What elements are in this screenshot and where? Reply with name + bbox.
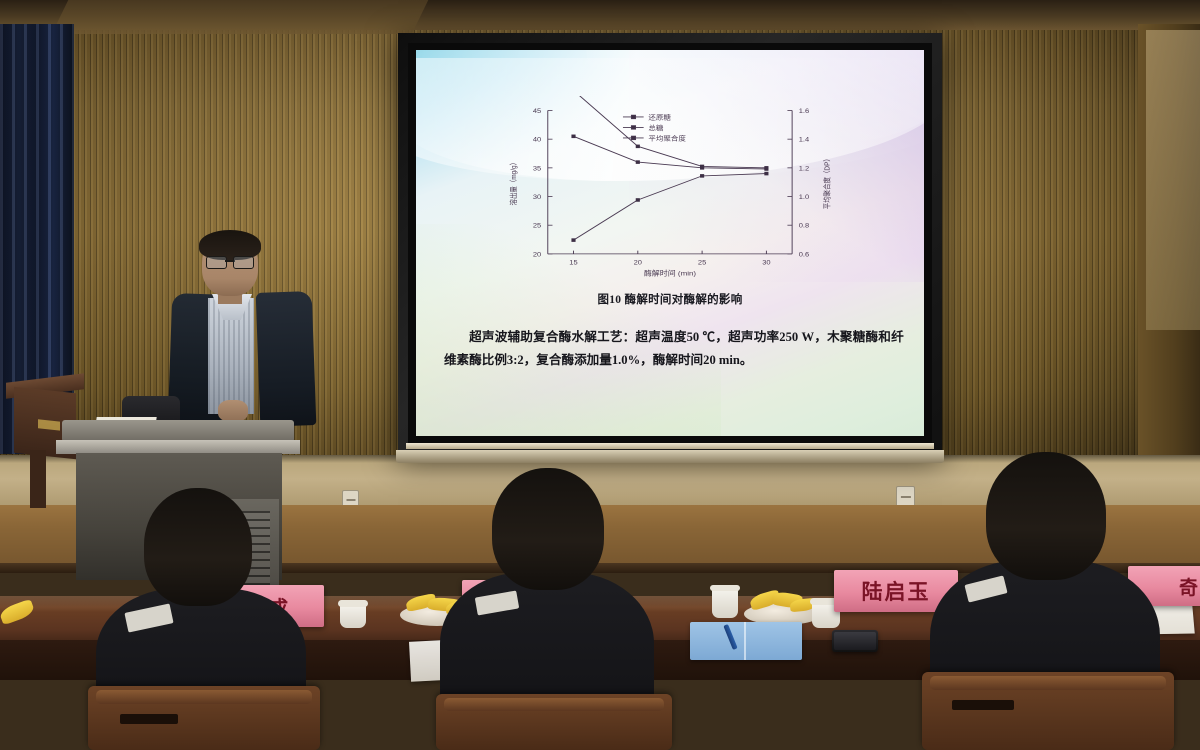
chair-rail-center xyxy=(444,698,664,711)
presenter-hands xyxy=(218,400,248,422)
paper-cup-center xyxy=(712,588,738,618)
notebook xyxy=(690,622,802,660)
screenshot-root: 2025303540450.60.81.01.21.41.615202530溶出… xyxy=(0,0,1200,750)
audience-2-head xyxy=(492,468,604,590)
presentation-slide: 2025303540450.60.81.01.21.41.615202530溶出… xyxy=(416,50,924,436)
audience-1-head xyxy=(144,488,252,606)
wall-socket-right xyxy=(896,486,915,507)
svg-text:总糖: 总糖 xyxy=(648,124,663,132)
slide-body-text: 超声波辅助复合酶水解工艺：超声温度50 ℃，超声功率250 W，木聚糖酶和纤维素… xyxy=(444,326,904,373)
svg-text:20: 20 xyxy=(634,260,642,266)
lectern-stem xyxy=(30,450,46,508)
placard-center-right-text: 陆启玉 xyxy=(862,576,931,606)
screen-tension-bar xyxy=(406,443,934,449)
placard-right-text: 奇 xyxy=(1179,573,1200,600)
projection-screen: 2025303540450.60.81.01.21.41.615202530溶出… xyxy=(398,33,942,453)
slide-body-paragraph: 超声波辅助复合酶水解工艺：超声温度50 ℃，超声功率250 W，木聚糖酶和纤维素… xyxy=(444,326,904,373)
chair-slot-left xyxy=(120,714,178,724)
teacup-left xyxy=(340,604,366,628)
chair-slot-right xyxy=(952,700,1014,710)
svg-text:20: 20 xyxy=(533,252,541,258)
svg-text:酶解时间 (min): 酶解时间 (min) xyxy=(644,269,697,278)
svg-text:15: 15 xyxy=(569,260,577,266)
screen-bottom-bar xyxy=(396,450,944,463)
svg-text:1.4: 1.4 xyxy=(799,137,810,143)
ceiling-beam xyxy=(52,0,429,34)
svg-text:30: 30 xyxy=(533,195,541,201)
audience-3-head xyxy=(986,452,1106,580)
svg-text:1.2: 1.2 xyxy=(799,166,810,172)
notebook-spine xyxy=(744,622,746,660)
svg-text:还原糖: 还原糖 xyxy=(648,113,671,121)
svg-text:40: 40 xyxy=(533,137,541,143)
svg-text:溶出量（mg/g）: 溶出量（mg/g） xyxy=(508,159,518,206)
svg-text:35: 35 xyxy=(533,166,541,172)
paper-cup-center-lid xyxy=(710,585,740,591)
screen-surface: 2025303540450.60.81.01.21.41.615202530溶出… xyxy=(416,50,924,436)
svg-text:1.6: 1.6 xyxy=(799,109,810,115)
svg-text:0.6: 0.6 xyxy=(799,252,810,258)
svg-text:平均聚合度（DP）: 平均聚合度（DP） xyxy=(822,155,832,209)
smartphone[interactable] xyxy=(832,630,878,652)
svg-text:30: 30 xyxy=(762,260,770,266)
chart-svg: 2025303540450.60.81.01.21.41.615202530溶出… xyxy=(482,96,858,281)
presenter-jacket-right xyxy=(256,291,317,427)
podium-lip xyxy=(56,440,300,454)
chair-rail-right xyxy=(930,676,1166,690)
glasses-icon xyxy=(206,256,254,267)
chair-rail-left xyxy=(96,690,312,704)
svg-text:25: 25 xyxy=(533,223,541,229)
teacup-left-lid xyxy=(338,600,368,607)
podium-top xyxy=(62,420,294,442)
slide-chart: 2025303540450.60.81.01.21.41.615202530溶出… xyxy=(482,96,858,281)
glasses-bridge xyxy=(225,260,235,262)
smartphone-screen[interactable] xyxy=(834,632,876,650)
lectern-badge xyxy=(38,419,60,430)
svg-text:1.0: 1.0 xyxy=(799,195,810,201)
svg-text:25: 25 xyxy=(698,260,706,266)
figure-caption: 图10 酶解时间对酶解的影响 xyxy=(416,291,924,307)
svg-text:平均聚合度: 平均聚合度 xyxy=(648,134,686,142)
svg-text:45: 45 xyxy=(533,109,541,115)
door-frame xyxy=(1146,30,1200,330)
svg-text:0.8: 0.8 xyxy=(799,223,810,229)
